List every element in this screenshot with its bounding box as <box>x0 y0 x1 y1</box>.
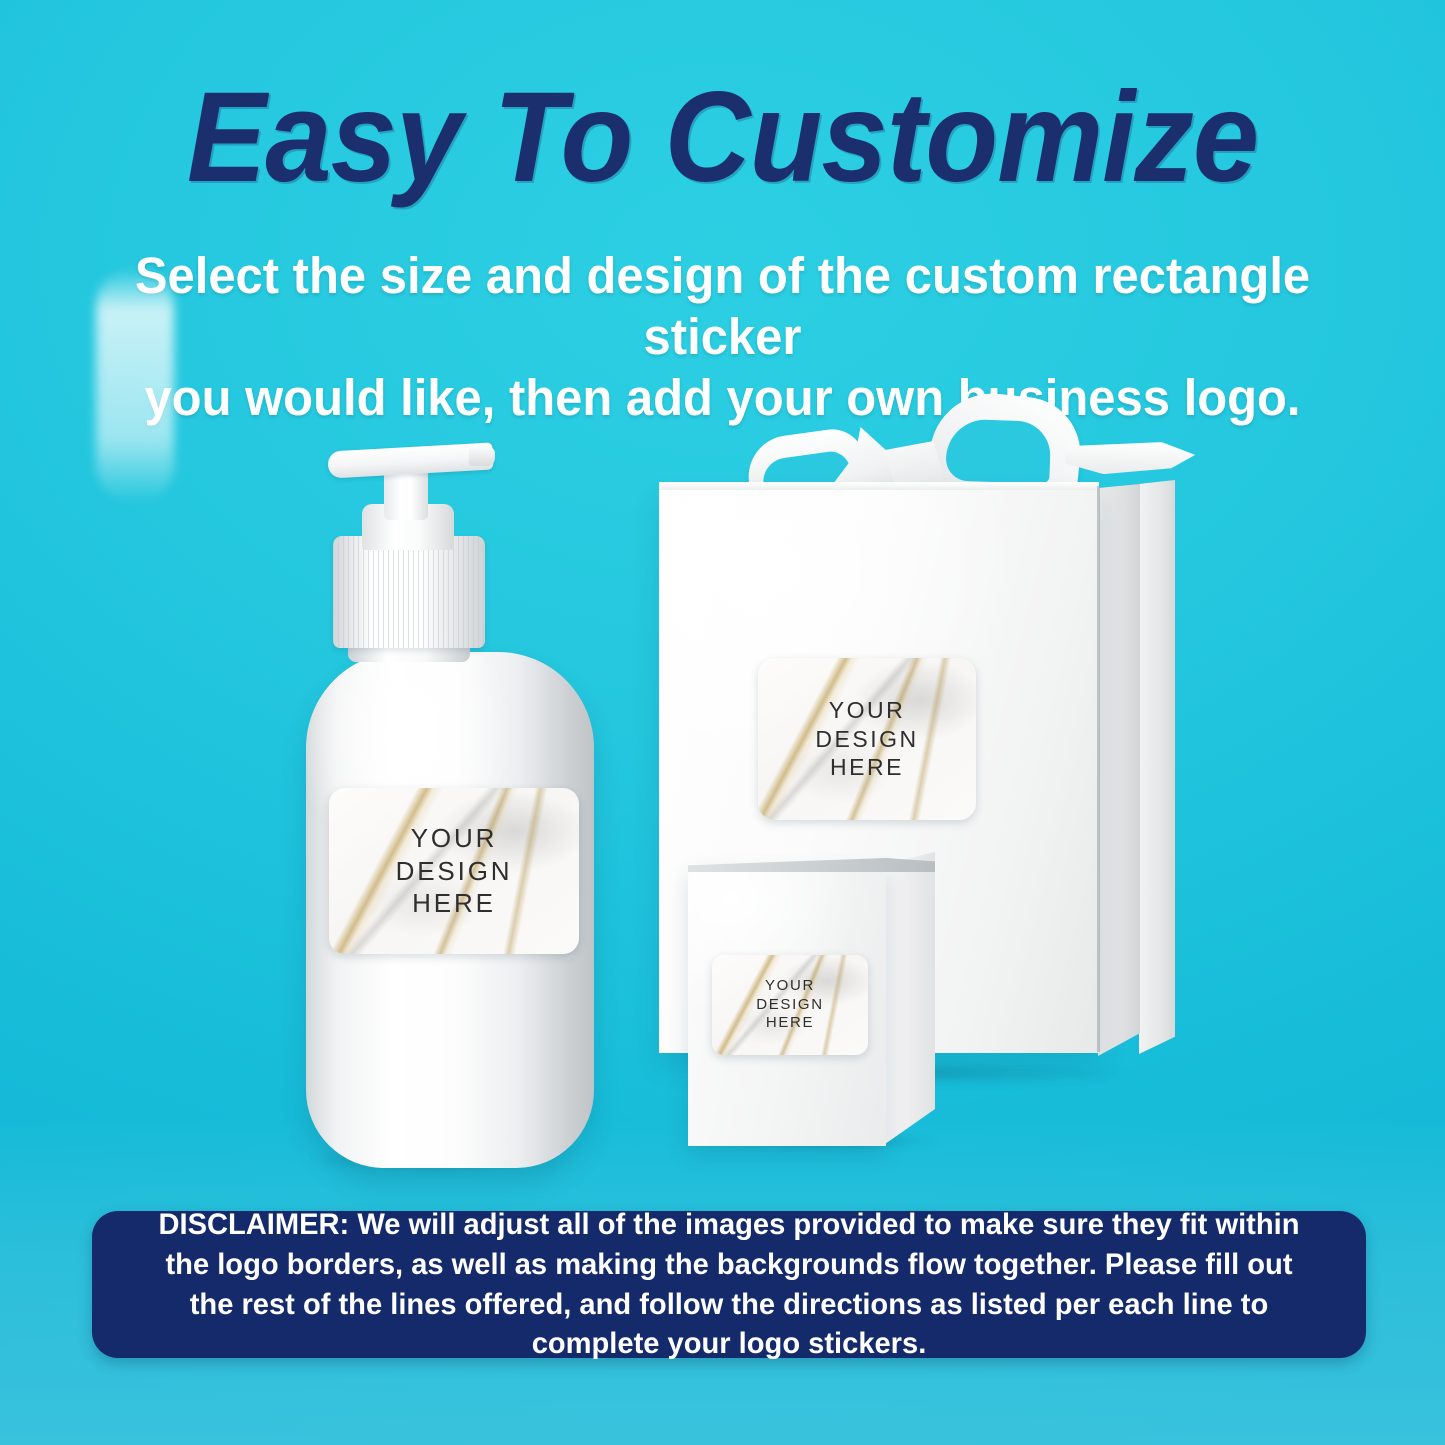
bottle-gloss-highlight <box>96 268 174 504</box>
subtitle-line-1: Select the size and design of the custom… <box>106 245 1340 367</box>
gift-box-side-back <box>1139 480 1175 1054</box>
sticker-line-2: DESIGN <box>756 996 823 1015</box>
small-box-side <box>885 852 935 1144</box>
sticker-text: YOUR DESIGN HERE <box>815 696 918 783</box>
promo-banner: Easy To Customize Select the size and de… <box>0 0 1445 1445</box>
sticker-line-1: YOUR <box>815 696 918 725</box>
sticker-text: YOUR DESIGN HERE <box>756 977 823 1034</box>
gift-box-side <box>1098 484 1140 1056</box>
sticker-text: YOUR DESIGN HERE <box>396 822 513 920</box>
sticker-line-3: HERE <box>396 887 513 920</box>
sticker-line-2: DESIGN <box>396 855 513 888</box>
disclaimer-box: DISCLAIMER: We will adjust all of the im… <box>92 1211 1366 1358</box>
gift-box-lid-line <box>1097 486 1100 1052</box>
sticker-bottle: YOUR DESIGN HERE <box>329 788 579 954</box>
sticker-gift-box: YOUR DESIGN HERE <box>758 658 976 820</box>
disclaimer-text: DISCLAIMER: We will adjust all of the im… <box>111 1205 1347 1365</box>
sticker-line-3: HERE <box>815 753 918 782</box>
disclaimer-lead: DISCLAIMER: <box>158 1208 349 1241</box>
sticker-small-box: YOUR DESIGN HERE <box>712 955 868 1055</box>
page-title: Easy To Customize <box>51 74 1395 202</box>
small-box-top <box>688 858 935 872</box>
sticker-line-3: HERE <box>756 1014 823 1033</box>
sticker-line-1: YOUR <box>396 822 513 855</box>
bottle-pump-collar <box>333 536 485 648</box>
bottle-pump-nozzle <box>327 442 493 478</box>
sticker-line-1: YOUR <box>756 977 823 996</box>
gift-box-top-lip <box>659 482 1099 490</box>
sticker-line-2: DESIGN <box>815 725 918 754</box>
